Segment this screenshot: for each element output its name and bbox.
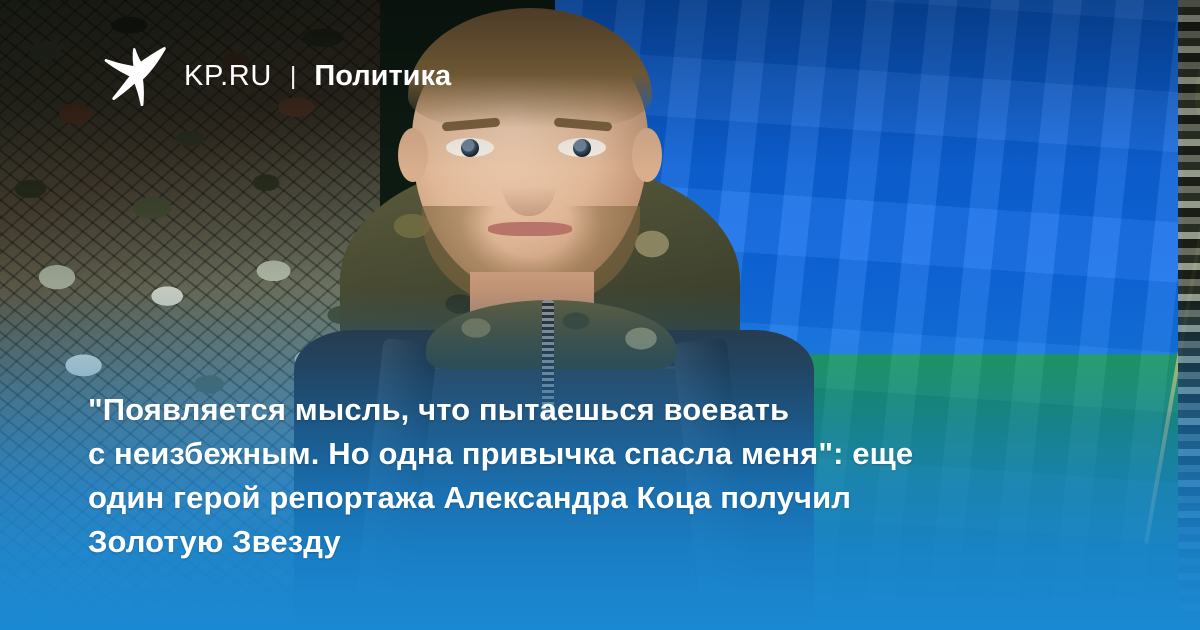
header-separator: | [290,64,297,89]
kp-swallow-bird-icon[interactable] [100,46,166,106]
headline-line: один герой репортажа Александра Коца пол… [88,476,1048,520]
headline-line: "Появляется мысль, что пытаешься воевать [88,388,1048,432]
social-share-card: НАС [0,0,1200,630]
headline: "Появляется мысль, что пытаешься воевать… [88,388,1048,564]
card-header: KP.RU | Политика [100,46,451,106]
headline-line: Золотую Звезду [88,520,1048,564]
rubric-label[interactable]: Политика [314,62,451,91]
brand-label[interactable]: KP.RU [184,62,272,91]
headline-line: с неизбежным. Но одна привычка спасла ме… [88,432,1048,476]
